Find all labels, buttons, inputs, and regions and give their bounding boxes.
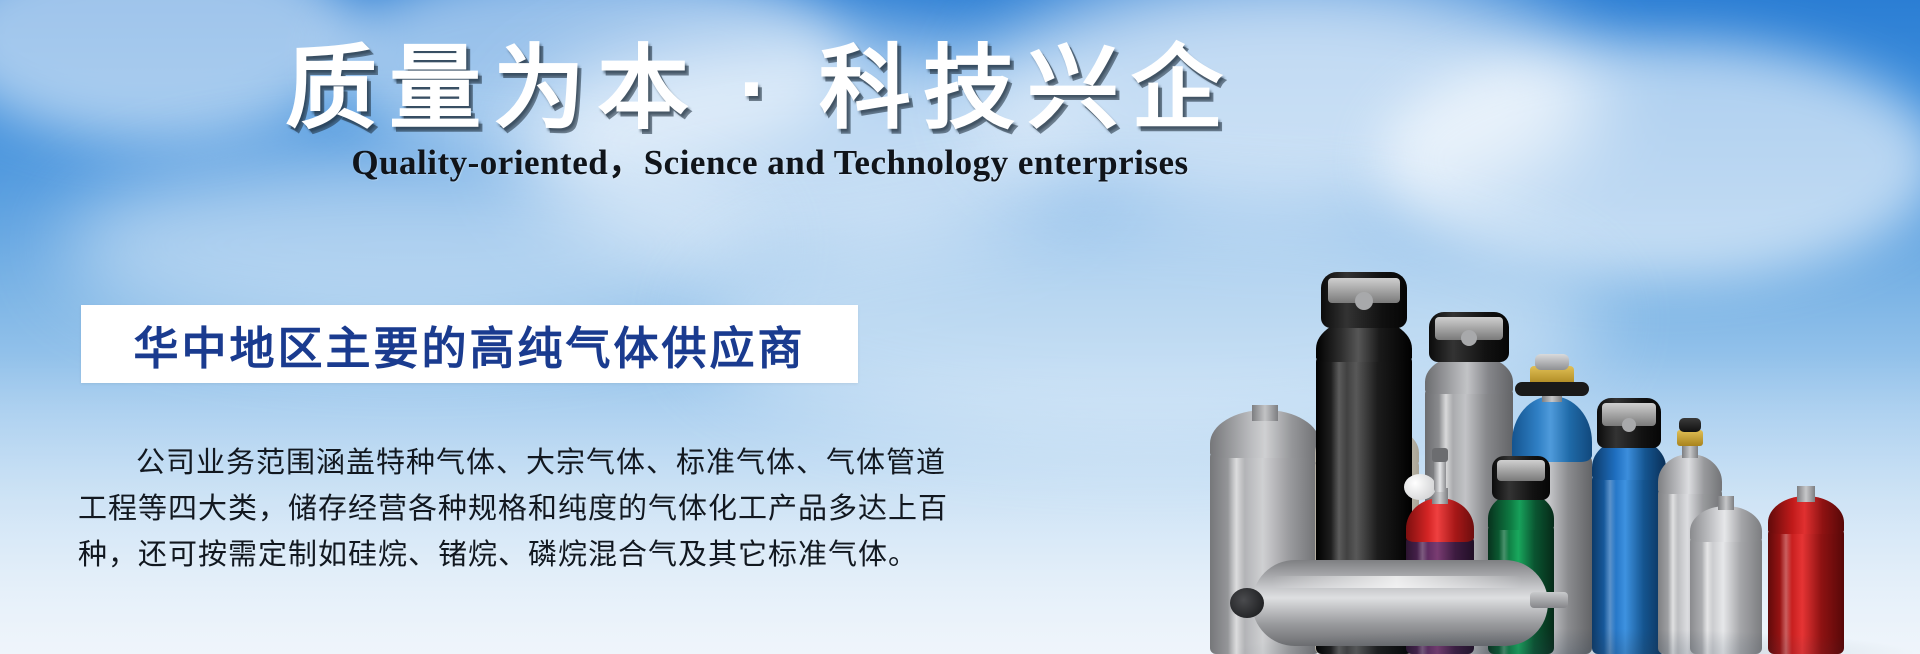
cylinder-valve-knob (1461, 330, 1477, 346)
tank-end-cap (1230, 588, 1264, 618)
description-paragraph: 公司业务范围涵盖特种气体、大宗气体、标准气体、气体管道 工程等四大类，储存经营各… (78, 440, 878, 578)
cylinder-valve (1434, 458, 1446, 492)
cylinder-valve-knob (1622, 418, 1636, 432)
pressure-regulator-gauge (1404, 474, 1436, 500)
valve-handwheel (1679, 418, 1701, 432)
gas-cylinder-group-photo (1220, 94, 1920, 654)
ground-shadow (1220, 628, 1920, 654)
paragraph-line-3: 种，还可按需定制如硅烷、锗烷、磷烷混合气及其它标准气体。 (78, 532, 878, 578)
cylinder-valve-knob (1432, 448, 1448, 462)
cylinder-valve-knob (1355, 292, 1373, 310)
paragraph-line-2: 工程等四大类，储存经营各种规格和纯度的气体化工产品多达上百 (78, 486, 878, 532)
highlight-banner-text: 华中地区主要的高纯气体供应商 (81, 305, 858, 383)
tank-valve (1530, 592, 1568, 608)
brass-valve (1677, 430, 1703, 446)
highlight-banner-box: 华中地区主要的高纯气体供应商 (81, 305, 858, 383)
valve-handwheel (1535, 354, 1569, 370)
black-cylinder-cap (1492, 456, 1550, 500)
promotional-banner: 质量为本 · 科技兴企 Quality-oriented，Science and… (0, 0, 1920, 654)
paragraph-line-1: 公司业务范围涵盖特种气体、大宗气体、标准气体、气体管道 (78, 440, 878, 486)
blue-cylinder (1592, 386, 1666, 654)
valve-guard (1515, 382, 1589, 396)
